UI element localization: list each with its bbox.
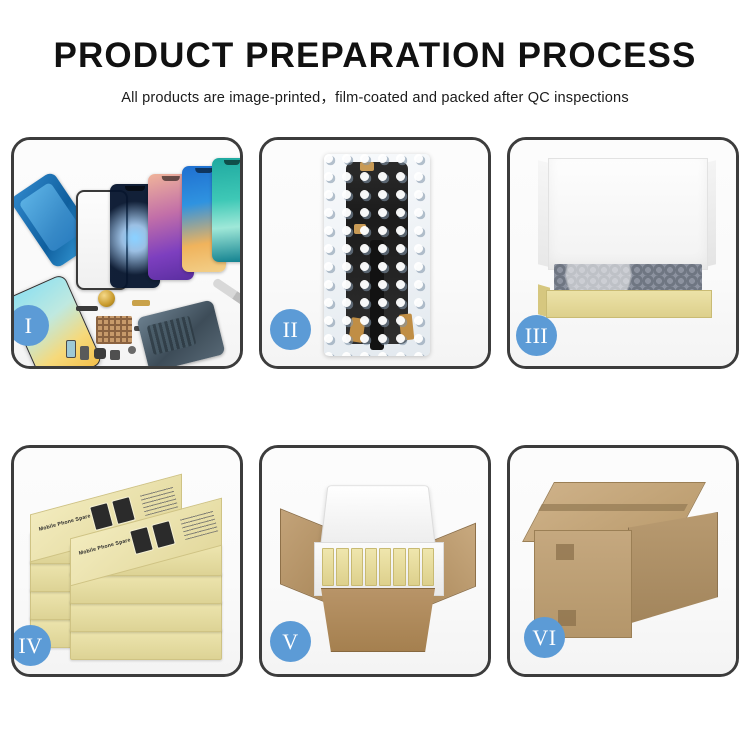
retail-box <box>322 548 334 586</box>
panel-stacked-retail-boxes: Mobile Phone Spare Parts Mobile Phone Sp… <box>11 445 243 677</box>
foam-lid <box>320 485 436 546</box>
packed-retail-boxes <box>322 548 434 586</box>
screw-part <box>128 346 136 354</box>
phone-notch <box>224 160 240 165</box>
retail-box <box>422 548 434 586</box>
screw-tray-part <box>96 316 132 344</box>
step-badge-3: III <box>516 315 557 356</box>
process-panel-grid: I II III <box>11 137 739 677</box>
white-foam-lid <box>548 158 708 270</box>
phone-screen-teal <box>212 158 243 262</box>
bubble-texture-highlight <box>324 154 430 356</box>
vibration-motor-part <box>98 290 115 307</box>
step-badge-5: V <box>270 621 311 662</box>
connector-part <box>132 300 150 306</box>
retail-box <box>379 548 391 586</box>
page-subtitle: All products are image-printed，film-coat… <box>0 86 750 107</box>
step-badge-2: II <box>270 309 311 350</box>
carton-hand-hole <box>558 610 576 626</box>
carton-tape-seam <box>538 504 688 511</box>
phone-notch <box>125 186 145 191</box>
panel-open-inner-box-with-foam: III <box>507 137 739 369</box>
retail-box <box>365 548 377 586</box>
retail-box <box>336 548 348 586</box>
bubble-wrap-bag <box>324 154 430 356</box>
phone-chassis-part <box>136 299 225 369</box>
carton-body <box>316 588 440 652</box>
camera-module-part <box>110 350 120 360</box>
carton-hand-hole <box>556 544 574 560</box>
phone-notch <box>195 168 213 173</box>
panel-sealed-shipping-carton: VI <box>507 445 739 677</box>
step-badge-4: IV <box>11 625 51 666</box>
box-stack: Mobile Phone Spare Parts Mobile Phone Sp… <box>30 466 230 666</box>
page-title: PRODUCT PREPARATION PROCESS <box>0 38 750 75</box>
panel-product-parts-overview: I <box>11 137 243 369</box>
retail-box <box>351 548 363 586</box>
retail-box <box>70 600 222 632</box>
speaker-part <box>94 348 106 359</box>
panel-bubble-wrapped-screen: II <box>259 137 491 369</box>
page-header: PRODUCT PREPARATION PROCESS All products… <box>0 0 750 107</box>
carton-side-face <box>628 512 718 624</box>
panel-carton-with-foam-liner: V <box>259 445 491 677</box>
retail-box <box>70 628 222 660</box>
yellow-box-front <box>546 290 712 318</box>
phone-notch <box>162 176 180 181</box>
sim-tray-part <box>66 340 76 358</box>
retail-box <box>393 548 405 586</box>
small-component-part <box>80 346 89 360</box>
screwdriver-tool <box>212 277 243 311</box>
flex-cable-part <box>76 306 98 311</box>
step-badge-6: VI <box>524 617 565 658</box>
retail-box <box>408 548 420 586</box>
